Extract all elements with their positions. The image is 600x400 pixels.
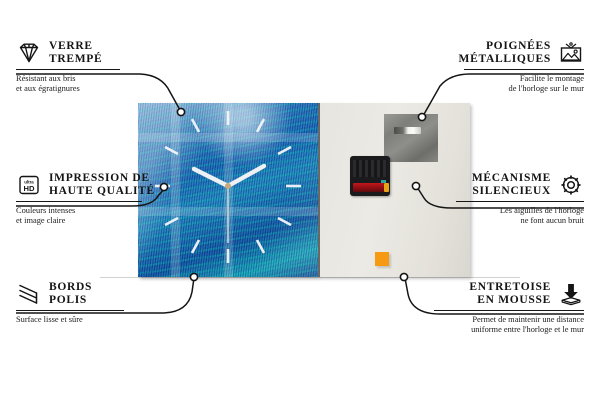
wall-mount-frame-icon [558, 41, 584, 65]
feature-title: ENTRETOISE EN MOUSSE [469, 281, 551, 307]
foam-spacer-arrow-icon [558, 282, 584, 306]
feature-bords-polis: BORDS POLIS Surface lisse et sûre [16, 281, 206, 325]
mechanism-housing [353, 160, 387, 177]
feature-title: MÉCANISME SILENCIEUX [472, 172, 551, 198]
clock-mechanism [350, 156, 390, 196]
feature-header: MÉCANISME SILENCIEUX [394, 172, 584, 198]
feature-header: ultra HD IMPRESSION DE HAUTE QUALITÉ [16, 172, 206, 198]
feature-description: Permet de maintenir une distance uniform… [394, 315, 584, 336]
feature-poignees-metalliques: POIGNÉES MÉTALLIQUES Facilite le montage… [394, 40, 584, 95]
feature-description: Facilite le montage de l'horloge sur le … [394, 74, 584, 95]
feature-title: BORDS POLIS [49, 281, 92, 307]
feature-mecanisme-silencieux: MÉCANISME SILENCIEUX [394, 172, 584, 227]
feature-description: Surface lisse et sûre [16, 315, 206, 325]
ultra-hd-icon: ultra HD [16, 173, 42, 197]
feature-description: Couleurs intenses et image claire [16, 206, 206, 227]
feature-description: Résistant aux bris et aux égratignures [16, 74, 206, 95]
feature-header: ENTRETOISE EN MOUSSE [394, 281, 584, 307]
feature-header: VERRE TREMPÉ [16, 40, 206, 66]
battery-terminal [384, 183, 389, 192]
feature-title: POIGNÉES MÉTALLIQUES [459, 40, 551, 66]
feature-divider [434, 310, 584, 311]
feature-divider [456, 201, 584, 202]
bracket-keyhole-slot [394, 127, 421, 134]
feature-divider [16, 69, 120, 70]
feature-description: Les aiguilles de l'horloge ne font aucun… [394, 206, 584, 227]
feature-header: POIGNÉES MÉTALLIQUES [394, 40, 584, 66]
gear-icon [558, 173, 584, 197]
diamond-icon [16, 41, 42, 65]
svg-text:HD: HD [24, 184, 35, 193]
panel-seam [318, 103, 320, 277]
feature-divider [16, 201, 142, 202]
feature-title: IMPRESSION DE HAUTE QUALITÉ [49, 172, 155, 198]
feature-header: BORDS POLIS [16, 281, 206, 307]
feature-impression-hd: ultra HD IMPRESSION DE HAUTE QUALITÉ Cou… [16, 172, 206, 227]
surface-line [100, 277, 520, 278]
feature-verre-trempe: VERRE TREMPÉ Résistant aux bris et aux é… [16, 40, 206, 95]
feature-divider [16, 310, 124, 311]
orange-foam-spacer [375, 252, 389, 266]
feature-entretoise-mousse: ENTRETOISE EN MOUSSE Permet de maintenir… [394, 281, 584, 336]
metal-hanging-bracket [384, 114, 438, 162]
battery [353, 183, 384, 192]
feature-title: VERRE TREMPÉ [49, 40, 102, 66]
infographic-canvas: VERRE TREMPÉ Résistant aux bris et aux é… [0, 0, 600, 400]
feature-divider [464, 69, 584, 70]
polished-edge-icon [16, 282, 42, 306]
